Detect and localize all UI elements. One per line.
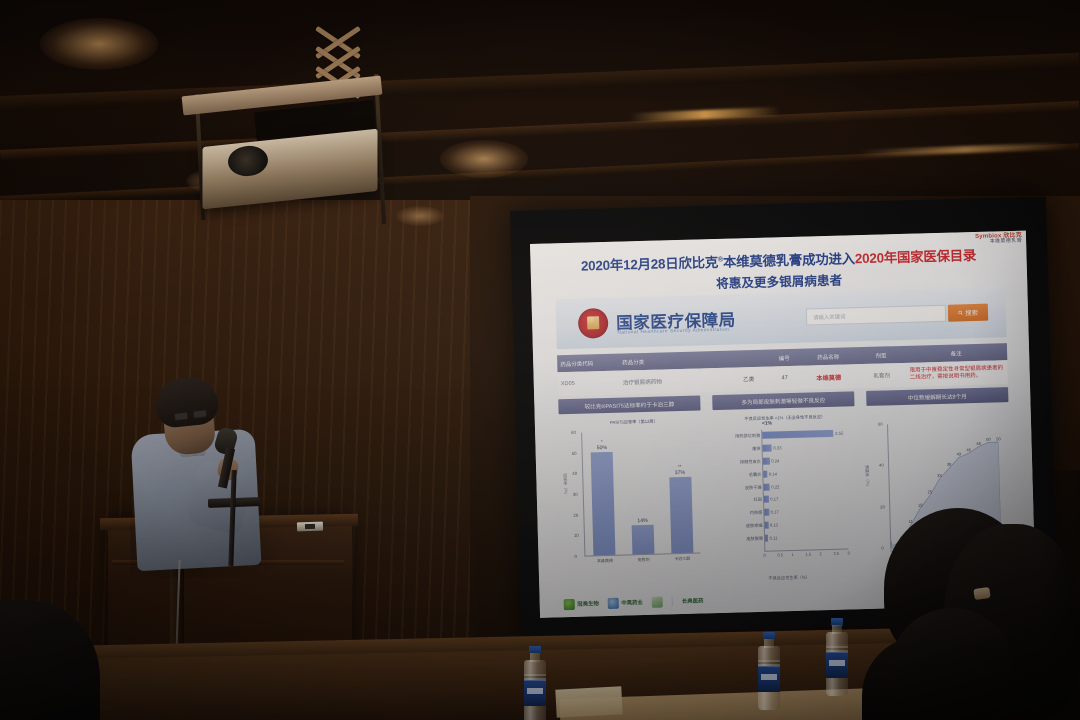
emblem-icon: [652, 596, 663, 607]
chart2-xtick: 0.5: [777, 552, 783, 557]
search-placeholder: 请输入关键词: [813, 312, 846, 321]
th-dosage: 剂型: [857, 350, 905, 359]
chart1-ytick: 50: [572, 450, 577, 455]
chart2-value-label: 0.22: [771, 483, 779, 490]
chart1-value-label: 50%: [585, 444, 619, 451]
partner-1-name: 冠昊生物: [577, 599, 599, 608]
search-input[interactable]: 请输入关键词: [806, 305, 946, 326]
chart1-ytick: 30: [573, 492, 578, 497]
chart3-point-label: 19: [918, 502, 923, 507]
chart2-category-label: 用药部位刺激: [735, 432, 760, 440]
gov-site-header: 国家医疗保障局 National Healthcare Security Adm…: [556, 287, 1007, 349]
td-note: 限用于中度稳定性寻常型银屑病患者的二线治疗，需按说明书用药。: [905, 365, 1007, 383]
chart2-category-label: 红斑: [754, 496, 763, 503]
chart2-bar: [763, 444, 772, 451]
chart1-plot: 010203040506050%*本维莫德14%安慰剂37%**卡泊三醇: [581, 430, 700, 557]
chart2-title: 不良反应发生率 <1%（无全身性不良反应）: [709, 413, 861, 423]
title-part-1: 2020年12月28日欣比克: [581, 255, 718, 274]
footer-divider: [672, 596, 673, 606]
chart2-row: 皮肤疼痛0.13: [765, 520, 849, 529]
chart1-ytick: 40: [572, 471, 577, 476]
chart2-value-label: 0.24: [771, 457, 779, 464]
search-icon: [958, 310, 963, 315]
chart2-xtick: 2: [819, 551, 821, 556]
chart2-row: 皮肤干燥0.22: [764, 481, 848, 490]
chart2-xtick: 0: [763, 553, 765, 558]
chart3-ytick: 0: [881, 546, 883, 551]
chart2-row: 毛囊炎0.14: [763, 468, 847, 477]
chart2-xtick: 1.5: [805, 552, 811, 557]
chart2-value-label: 0.14: [769, 470, 777, 477]
chart2-value-label: 0.17: [771, 509, 779, 516]
chart1-significance: **: [663, 463, 697, 469]
th-number: 编号: [769, 353, 799, 362]
chart1-category-label: 本维莫德: [585, 558, 625, 565]
th-blank: [727, 358, 769, 359]
conference-room-photo: Symbiox 欣比克 本维莫德乳膏 2020年12月28日欣比克®本维莫德乳膏…: [0, 0, 1080, 720]
th-note: 备注: [905, 348, 1007, 359]
chart2-xlabel: 不良反应发生率（%）: [713, 573, 865, 583]
chart2-category-label: 毛囊炎: [749, 470, 762, 477]
chart2-category-label: 皮肤疼痛: [746, 522, 763, 529]
chart3-ytick: 40: [879, 463, 884, 468]
chart3-point-label: 33: [937, 473, 942, 478]
chart2-xtick: 3: [847, 550, 849, 555]
partner-logo-3: [652, 596, 663, 607]
chart1-significance: *: [585, 438, 619, 444]
ceiling-downlight: [40, 18, 158, 70]
partner-logo-2: 中昊药业: [608, 597, 643, 609]
chart1-title: PASI75应答率（第12周）: [559, 417, 709, 427]
chart1-category-label: 安慰剂: [624, 557, 664, 564]
chart3-point-label: 50: [996, 436, 1001, 441]
shield-icon: [608, 597, 619, 608]
chart3-point-label: 48: [976, 441, 981, 446]
chart-bar-adverse: 不良反应发生率 <1%（无全身性不良反应） <1%用药部位刺激2.55瘙痒0.3…: [709, 413, 865, 583]
chart2-value-label: 2.55: [835, 430, 843, 437]
partner-2-name: 中昊药业: [621, 598, 643, 607]
chart1-ytick: 0: [574, 554, 577, 559]
chart3-ytick: 20: [880, 504, 885, 509]
chart2-row: 红斑0.17: [764, 494, 848, 503]
chart2-xtick: 2.5: [833, 551, 839, 556]
chart2-row: 用药部位刺激2.55: [762, 430, 846, 439]
ceiling-projector: [222, 34, 452, 194]
chart3-point-label: 1: [890, 540, 892, 545]
chart1-value-label: 37%: [663, 469, 697, 476]
chart2-bar: [764, 483, 770, 490]
th-code: 药品分类代码: [557, 358, 619, 368]
chart2-annotation: <1%: [762, 421, 772, 427]
chart3-point-label: 38: [947, 462, 952, 467]
td-number: 乙类: [728, 375, 770, 384]
chart-bar-pasi75: PASI75应答率（第12周） 应答率（%） 010203040506050%*…: [559, 417, 713, 587]
chart2-bar: [764, 509, 769, 516]
title-part-3: 2020年国家医保目录: [855, 248, 977, 266]
chart2-bar: [765, 522, 769, 529]
chart2-category-label: 皮肤脱屑: [746, 535, 763, 542]
chart1-bar: [632, 525, 655, 555]
chart2-row: 接触性皮炎0.24: [763, 455, 847, 464]
key-box-2: 多为局部皮肤刺激等轻微不良反应: [712, 391, 854, 410]
audience-ear: [973, 587, 990, 600]
chart3-ylabel: 缓解率（%）: [864, 465, 871, 489]
chart3-ytick: 60: [878, 422, 883, 427]
chart1-bar: [591, 452, 616, 556]
partner-logo-4: 长典医药: [682, 596, 704, 605]
chart2-row: 皮肤脱屑0.11: [765, 533, 849, 542]
chart1-ylabel: 应答率（%）: [562, 473, 569, 497]
chart2-bar: [765, 535, 768, 542]
chart2-xtick: 1: [791, 552, 793, 557]
chart1-ytick: 10: [574, 533, 579, 538]
td-drug-name: 本维莫德: [800, 372, 858, 383]
chart3-point-label: 43: [957, 452, 962, 457]
td-dosage: 乳膏剂: [858, 371, 906, 380]
paper-document: [555, 686, 622, 717]
key-box-3: 中位数缓解期长达9个月: [866, 387, 1008, 406]
bottle-label: [826, 652, 848, 678]
chart2-bar: [763, 470, 767, 477]
td-category: 治疗银屑病药物: [620, 376, 728, 387]
partner-4-name: 长典医药: [682, 596, 704, 605]
chart2-category-label: 灼热感: [750, 509, 763, 516]
audience-member: [892, 608, 1012, 720]
chart2-value-label: 0.17: [770, 496, 778, 503]
chart2-row: 瘙痒0.33: [763, 442, 847, 451]
chart1-ytick: 60: [571, 430, 576, 435]
th-category: 药品分类: [619, 355, 727, 366]
chart1-bar: [669, 476, 693, 553]
chart2-row: 灼热感0.17: [764, 507, 848, 516]
chart2-plot: <1%用药部位刺激2.55瘙痒0.33接触性皮炎0.24毛囊炎0.14皮肤干燥0…: [761, 428, 848, 552]
chart2-value-label: 0.13: [770, 522, 778, 529]
chart2-bar: [763, 457, 770, 464]
chart2-category-label: 接触性皮炎: [740, 458, 761, 466]
td-code: XD05: [558, 380, 620, 388]
bottle-label: [524, 680, 546, 706]
chart3-point-label: 11: [909, 519, 913, 524]
chart2-bar: [764, 496, 769, 503]
national-emblem-icon: [578, 308, 609, 339]
partner-logo-1: 冠昊生物: [564, 598, 599, 610]
chart3-point-label: 25: [928, 490, 933, 495]
projector-vent: [317, 147, 374, 182]
chart1-ytick: 20: [573, 512, 578, 517]
ceiling-downlight: [440, 140, 528, 178]
leaf-icon: [564, 598, 575, 609]
chart2-value-label: 0.11: [770, 535, 778, 542]
chart3-point-label: 45: [966, 447, 971, 452]
th-drug-name: 药品名称: [799, 352, 857, 362]
td-serial: 47: [770, 375, 800, 382]
search-button-label: 搜索: [965, 308, 978, 317]
chart2-value-label: 0.33: [773, 444, 781, 451]
ceiling-downlight: [396, 206, 444, 226]
foreground-shadow: [1040, 470, 1080, 720]
chart2-category-label: 瘙痒: [752, 445, 761, 452]
search-button[interactable]: 搜索: [948, 304, 988, 322]
bottle-label: [758, 666, 780, 692]
chart3-point-label: 50: [986, 436, 991, 441]
key-box-1: 较比克®PASI75达标率约于卡泊三醇: [558, 395, 700, 414]
chart2-bar: [762, 430, 834, 439]
chart2-category-label: 皮肤干燥: [745, 483, 762, 490]
chart1-category-label: 卡泊三醇: [662, 555, 702, 562]
title-part-2: 本维莫德乳膏成功进入: [723, 251, 855, 270]
chart1-value-label: 14%: [625, 518, 659, 525]
